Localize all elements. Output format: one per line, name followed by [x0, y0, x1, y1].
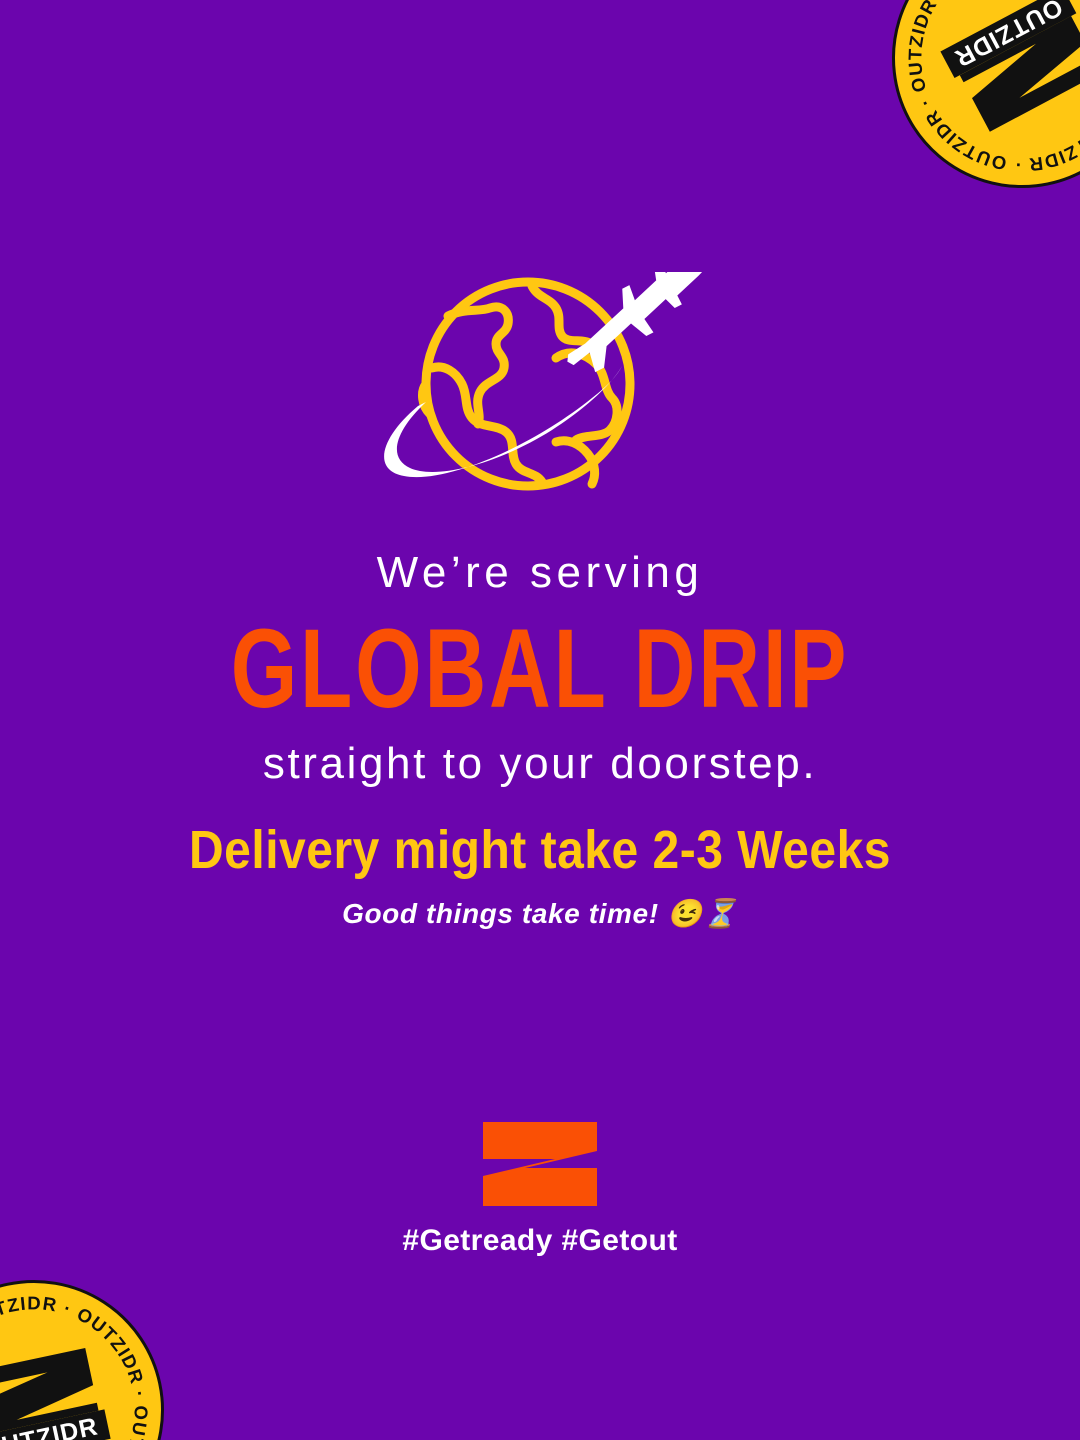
globe-airplane-svg: [360, 272, 720, 512]
delivery-note-text: Good things take time! 😉⏳: [0, 897, 1080, 930]
delivery-main-text: Delivery might take 2-3 Weeks: [0, 820, 1080, 882]
orbit-trail-icon: [384, 366, 622, 477]
outzidr-stamp-bottom-left: OUTZIDR · OUTZIDR · OUTZIDR · OUTZIDR · …: [0, 1256, 188, 1440]
eyebrow-text: We’re serving: [0, 548, 1080, 597]
brand-logo: [477, 1118, 603, 1210]
poster-canvas: OUTZIDR · OUTZIDR · OUTZIDR · OUTZIDR · …: [0, 0, 1080, 1440]
outzidr-stamp-top-right: OUTZIDR · OUTZIDR · OUTZIDR · OUTZIDR · …: [846, 0, 1080, 234]
hashtags-text: #Getready #Getout: [402, 1224, 677, 1258]
headline-copy-block: We’re serving GLOBAL DRIP straight to yo…: [0, 548, 1080, 789]
globe-airplane-illustration: [360, 272, 720, 512]
headline-text: GLOBAL DRIP: [38, 613, 1042, 725]
outzidr-z-logo-icon: [477, 1118, 603, 1210]
footer-block: #Getready #Getout: [0, 1118, 1080, 1258]
subline-text: straight to your doorstep.: [0, 739, 1080, 788]
delivery-info-block: Delivery might take 2-3 Weeks Good thing…: [0, 820, 1080, 930]
